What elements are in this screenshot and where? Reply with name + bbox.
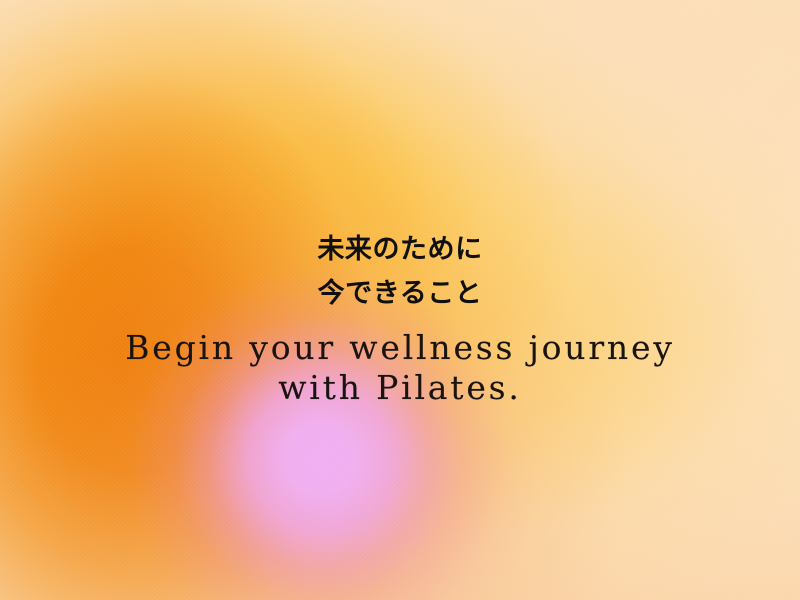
- japanese-headline-line-1: 未来のために: [0, 228, 800, 272]
- english-subheadline-line-2: with Pilates.: [0, 368, 800, 408]
- japanese-headline-line-2: 今できること: [0, 272, 800, 316]
- japanese-headline: 未来のために 今できること: [0, 228, 800, 316]
- english-subheadline: Begin your wellness journey with Pilates…: [0, 328, 800, 408]
- english-subheadline-line-1: Begin your wellness journey: [0, 328, 800, 368]
- poster-text-block: 未来のために 今できること Begin your wellness journe…: [0, 228, 800, 408]
- poster-canvas: 未来のために 今できること Begin your wellness journe…: [0, 0, 800, 600]
